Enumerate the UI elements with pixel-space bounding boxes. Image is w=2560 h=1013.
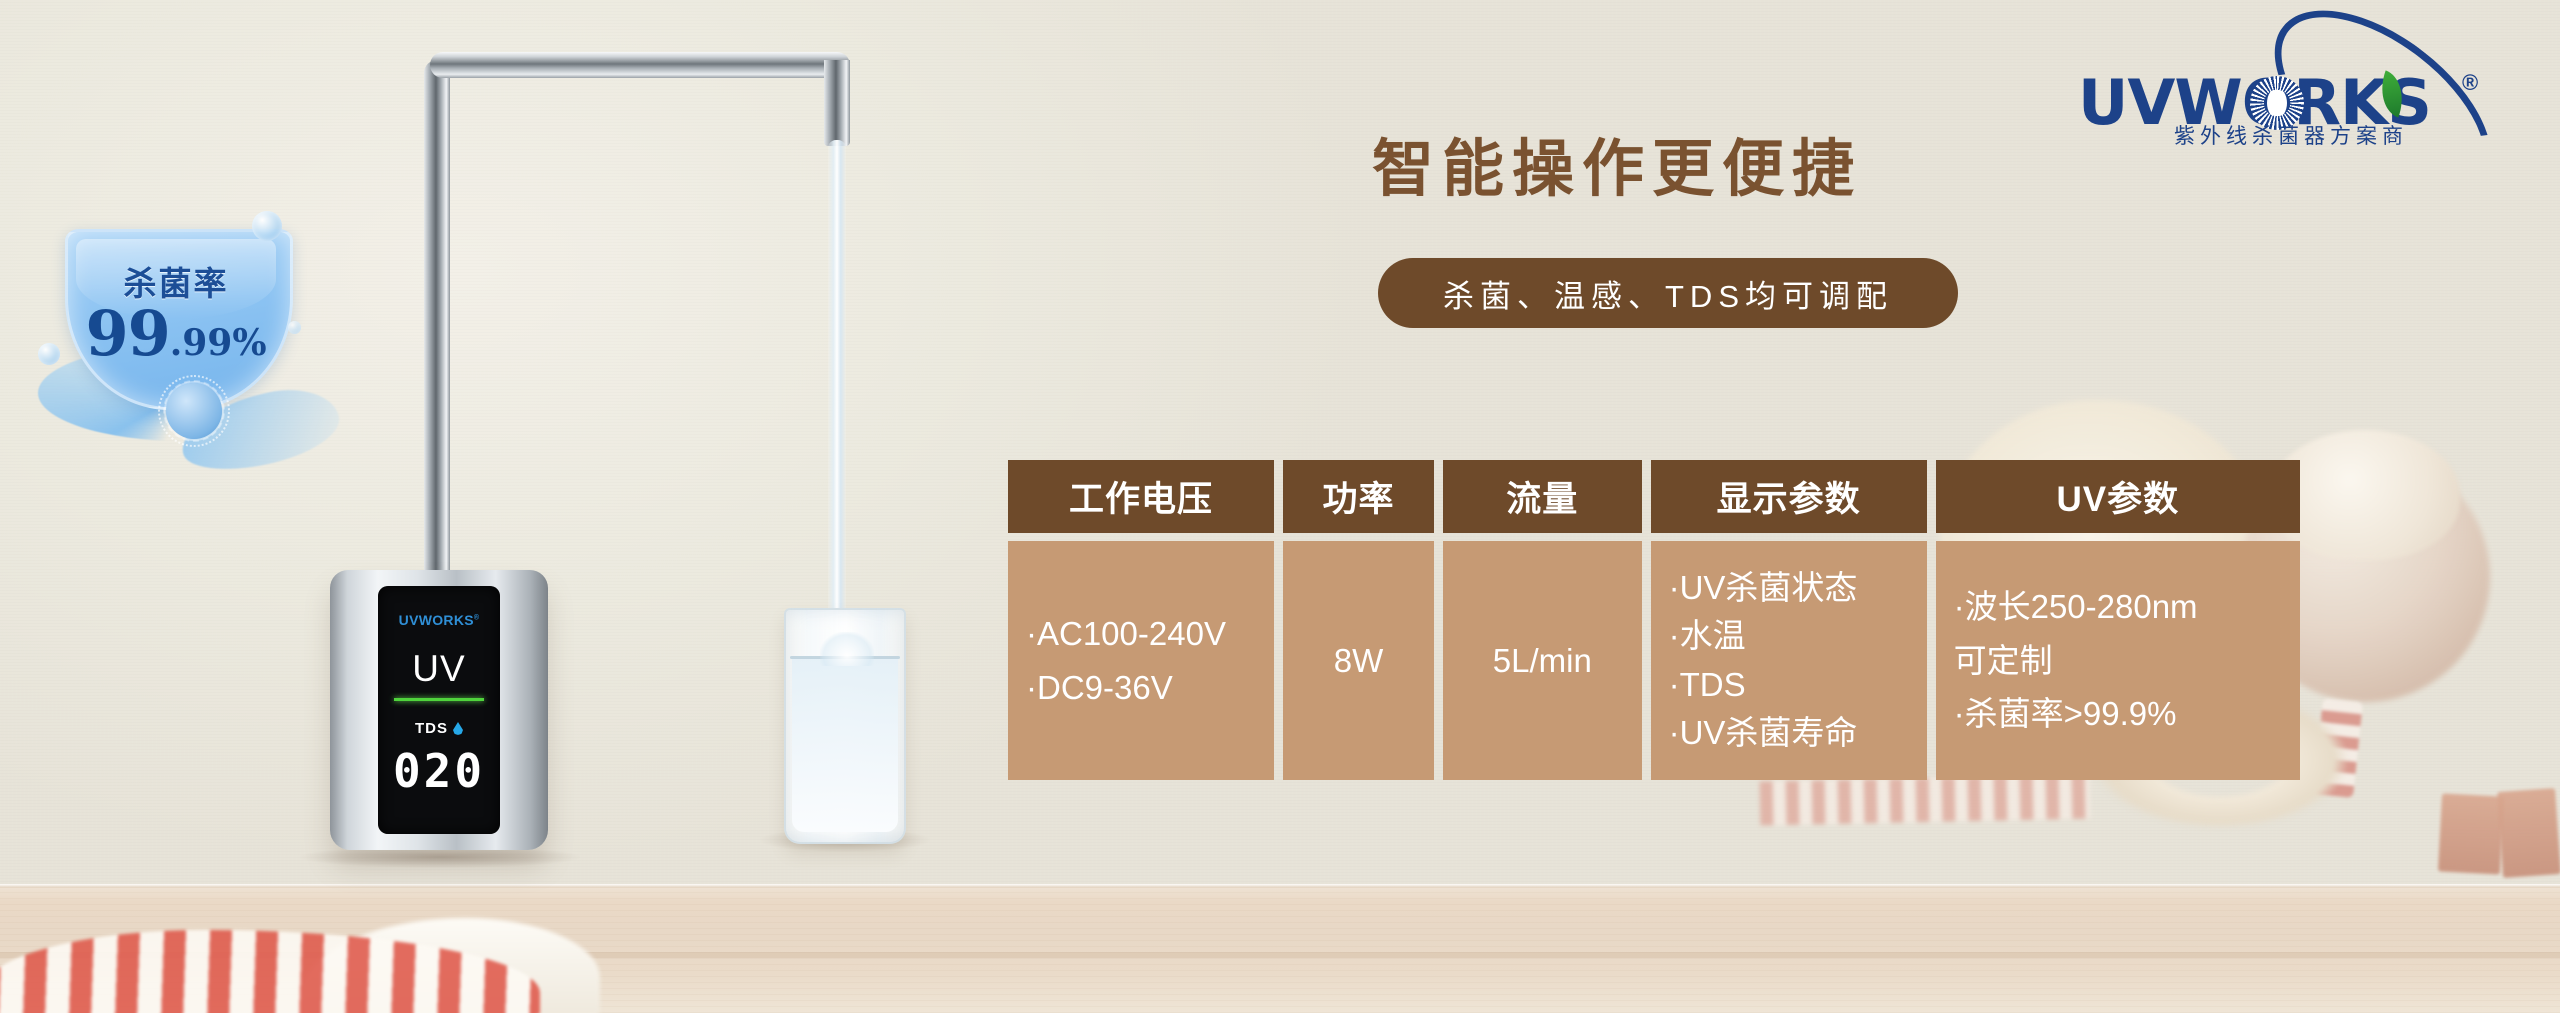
badge-value-minor: .99%	[170, 322, 267, 364]
germ-icon	[166, 383, 222, 439]
spec-item: ·DC9-36V	[1026, 661, 1256, 714]
spec-header-power: 功率	[1283, 460, 1434, 533]
banner-stage: 杀菌率 99.99% UVWORKS® UV TDS 020 UVWORKS	[0, 0, 2560, 1013]
spec-item: ·AC100-240V	[1026, 607, 1256, 660]
sterilization-rate-badge: 杀菌率 99.99%	[30, 195, 330, 430]
registered-trademark-icon: ®	[2462, 70, 2478, 96]
uv-sterilizer-device: UVWORKS® UV TDS 020	[330, 570, 548, 850]
faucet-spout	[824, 60, 850, 146]
bubble-icon-2	[38, 343, 60, 365]
spec-column-power: 功率 8W	[1283, 460, 1434, 780]
device-mode-label: UV	[378, 648, 500, 690]
spec-header-uv: UV参数	[1936, 460, 2300, 533]
table-edge	[0, 884, 2560, 888]
spec-column-uv: UV参数 ·波长250-280nm 可定制 ·杀菌率>99.9%	[1936, 460, 2300, 780]
device-display-screen[interactable]: UVWORKS® UV TDS 020	[378, 586, 500, 834]
device-status-bar	[394, 698, 484, 701]
spec-item: ·UV杀菌寿命	[1669, 709, 1909, 757]
spec-body-voltage: ·AC100-240V ·DC9-36V	[1008, 541, 1274, 780]
brand-tagline: 紫外线杀菌器方案商	[2096, 120, 2486, 150]
water-drop-icon	[453, 722, 463, 735]
bubble-icon-3	[288, 321, 301, 334]
spec-header-display: 显示参数	[1651, 460, 1927, 533]
spec-item: ·水温	[1669, 612, 1909, 660]
spec-column-display: 显示参数 ·UV杀菌状态 ·水温 ·TDS ·UV杀菌寿命	[1651, 460, 1927, 780]
wood-block-decor-1	[2438, 793, 2504, 874]
badge-value: 99.99%	[65, 297, 287, 370]
water-splash	[820, 632, 874, 666]
device-brand-logo: UVWORKS®	[378, 612, 500, 628]
spec-column-flow: 流量 5L/min	[1443, 460, 1642, 780]
specification-table: 工作电压 ·AC100-240V ·DC9-36V 功率 8W 流量 5L/mi…	[1008, 460, 2300, 780]
spec-column-voltage: 工作电压 ·AC100-240V ·DC9-36V	[1008, 460, 1274, 780]
spec-body-power: 8W	[1283, 541, 1434, 780]
spec-item: ·杀菌率>99.9%	[1954, 687, 2282, 740]
spec-header-voltage: 工作电压	[1008, 460, 1274, 533]
spec-item: 8W	[1334, 642, 1384, 680]
device-tds-label: TDS	[378, 720, 500, 737]
spec-header-flow: 流量	[1443, 460, 1642, 533]
spec-body-display: ·UV杀菌状态 ·水温 ·TDS ·UV杀菌寿命	[1651, 541, 1927, 780]
spec-body-uv: ·波长250-280nm 可定制 ·杀菌率>99.9%	[1936, 541, 2300, 780]
bubble-icon-1	[252, 211, 282, 241]
striped-cloth-decor	[1760, 775, 2091, 826]
subtitle-pill: 杀菌、温感、TDS均可调配	[1378, 258, 1958, 328]
spec-item: 可定制	[1954, 634, 2282, 687]
wood-block-decor-2	[2497, 788, 2560, 878]
spec-item: ·TDS	[1669, 661, 1909, 709]
water-glass	[784, 608, 906, 844]
spec-item: ·UV杀菌状态	[1669, 564, 1909, 612]
spec-item: 5L/min	[1493, 642, 1592, 680]
glass-water-body	[792, 658, 898, 832]
spec-item: ·波长250-280nm	[1954, 580, 2282, 633]
page-title: 智能操作更便捷	[1372, 118, 1992, 208]
water-stream	[828, 140, 846, 630]
badge-value-major: 99	[85, 297, 169, 370]
spec-body-flow: 5L/min	[1443, 541, 1642, 780]
faucet-horizontal-pipe	[430, 52, 850, 78]
faucet-vertical-pipe	[424, 60, 450, 580]
device-tds-value: 020	[378, 744, 500, 798]
